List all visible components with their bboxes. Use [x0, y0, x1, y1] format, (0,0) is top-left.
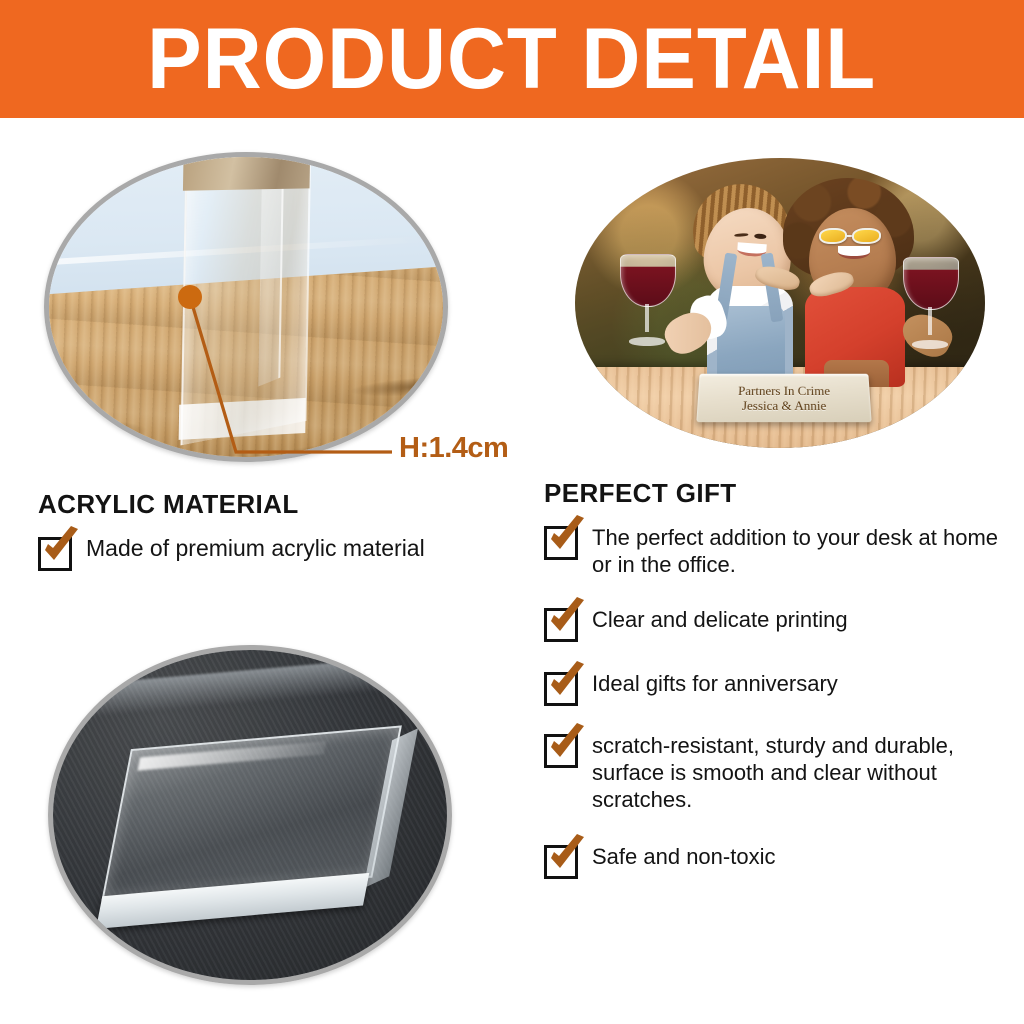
section-acrylic-material: ACRYLIC MATERIAL Made of premium acrylic…	[38, 489, 518, 571]
list-item: scratch-resistant, sturdy and durable, s…	[544, 730, 1004, 813]
checkmark-icon	[541, 515, 589, 561]
checkbox-checked-icon	[544, 845, 578, 879]
checkbox-checked-icon	[544, 526, 578, 560]
feature-list-acrylic-material: Made of premium acrylic material	[38, 533, 518, 571]
figure-left-winking-eye	[734, 234, 748, 238]
list-item: The perfect addition to your desk at hom…	[544, 522, 1004, 578]
sunglass-lens-right	[852, 228, 880, 244]
checkmark-icon	[541, 597, 589, 643]
list-item-label: Clear and delicate printing	[592, 604, 848, 633]
list-item: Clear and delicate printing	[544, 604, 1004, 642]
list-item-label: scratch-resistant, sturdy and durable, s…	[592, 730, 1004, 813]
section-perfect-gift: PERFECT GIFT The perfect addition to you…	[544, 478, 1004, 901]
wine-glass-left	[620, 254, 674, 346]
list-item: Safe and non-toxic	[544, 841, 1004, 879]
wood-grain-knot	[348, 372, 448, 400]
figure-right-smile	[838, 246, 869, 260]
list-item-label: Safe and non-toxic	[592, 841, 775, 870]
engraved-text-line-2: Jessica & Annie	[742, 397, 827, 412]
acrylic-top-edge	[182, 152, 309, 191]
height-callout-label: H:1.4cm	[399, 432, 508, 465]
engraved-base: Partners In Crime Jessica & Annie	[696, 373, 872, 422]
feature-list-perfect-gift: The perfect addition to your desk at hom…	[544, 522, 1004, 879]
checkbox-checked-icon	[544, 608, 578, 642]
checkmark-icon	[541, 723, 589, 769]
engraved-text-line-1: Partners In Crime	[738, 383, 830, 398]
wine-glass-right	[903, 257, 957, 349]
bobblehead-photo: Partners In Crime Jessica & Annie	[575, 158, 985, 448]
wine-glass-stem	[928, 307, 932, 335]
sunglasses-icon	[819, 230, 881, 242]
checkbox-checked-icon	[38, 537, 72, 571]
checkbox-checked-icon	[544, 672, 578, 706]
list-item-label: Ideal gifts for anniversary	[592, 668, 838, 697]
checkmark-icon	[541, 834, 589, 880]
wood-grain-knot	[44, 418, 149, 452]
list-item: Made of premium acrylic material	[38, 533, 518, 571]
checkmark-icon	[35, 526, 83, 572]
acrylic-block-upright	[180, 152, 307, 445]
wine-glass-bowl	[620, 254, 676, 308]
section-heading-acrylic-material: ACRYLIC MATERIAL	[38, 489, 518, 519]
list-item: Ideal gifts for anniversary	[544, 668, 1004, 706]
page-header-banner: PRODUCT DETAIL	[0, 0, 1024, 118]
page-title: PRODUCT DETAIL	[148, 16, 877, 102]
wine-glass-bowl	[903, 257, 959, 311]
sunglass-lens-left	[819, 228, 847, 244]
acrylic-flat-photo	[48, 645, 452, 985]
list-item-label: The perfect addition to your desk at hom…	[592, 522, 1004, 578]
wine-glass-foot	[629, 337, 666, 345]
section-heading-perfect-gift: PERFECT GIFT	[544, 478, 1004, 508]
acrylic-block-flat	[102, 726, 398, 898]
figure-left-open-eye	[755, 234, 767, 239]
checkmark-icon	[541, 661, 589, 707]
acrylic-edge-photo	[44, 152, 448, 462]
product-detail-infographic: PRODUCT DETAIL H:1.4cm	[0, 0, 1024, 1024]
list-item-label: Made of premium acrylic material	[86, 533, 425, 562]
wine-glass-stem	[645, 304, 649, 332]
checkbox-checked-icon	[544, 734, 578, 768]
wine-glass-foot	[912, 340, 949, 348]
